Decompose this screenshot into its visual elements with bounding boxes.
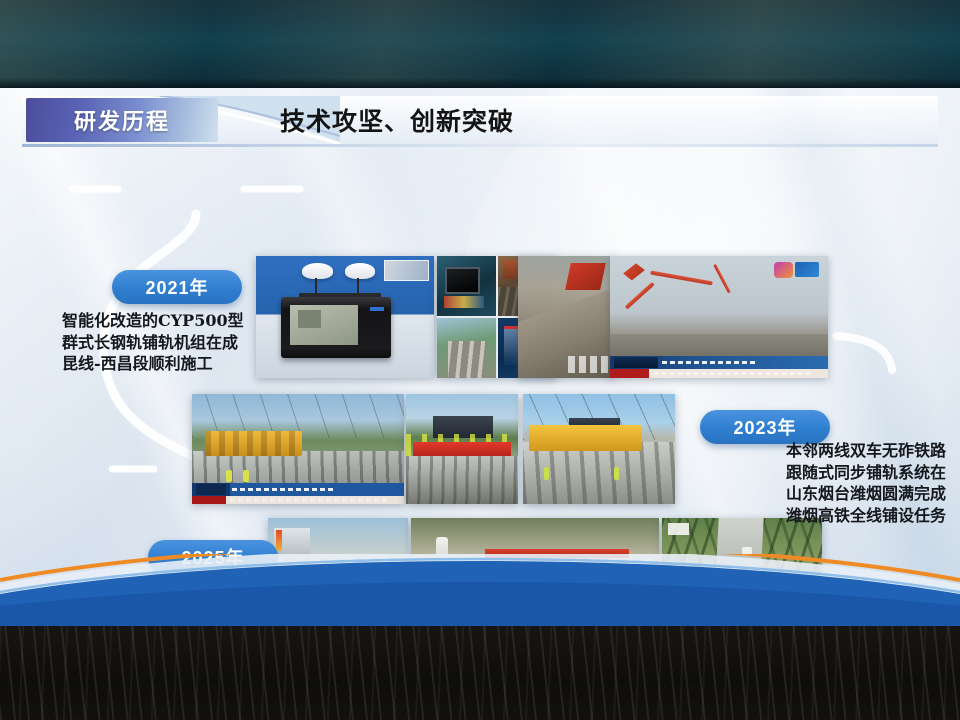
header-section-tab: 研发历程 (26, 98, 218, 142)
cctv-logo-icon (668, 523, 689, 534)
timeline-pill-2023-label: 2023年 (733, 414, 796, 440)
montage-cell (437, 318, 496, 378)
caption-line: 本邻两线双车无砟铁路 (786, 440, 960, 462)
channel-badge-secondary-icon (795, 262, 819, 277)
milestone-caption-2023: 本邻两线双车无砟铁路 跟随式同步铺轨系统在 山东烟台潍烟圆满完成 潍烟高铁全线铺… (786, 440, 960, 526)
header-divider (22, 144, 938, 147)
news-ticker-secondary (610, 369, 828, 378)
header-tab-label: 研发历程 (74, 104, 170, 136)
news-ticker-primary (610, 356, 828, 369)
caption-line: 群式长钢轨铺轨机组在成 (62, 332, 292, 354)
caption-line: 昆线-西昌段顺利施工 (62, 353, 292, 375)
caption-line: 跟随式同步铺轨系统在 (786, 462, 960, 484)
photo-yellow-gantry (523, 394, 675, 504)
montage-cell (437, 256, 496, 316)
news-ticker-primary (192, 483, 404, 496)
news-ticker-secondary (192, 496, 404, 504)
slide-header: 研发历程 技术攻坚、创新突破 (0, 96, 960, 148)
milestone-caption-2021: 智能化改造的CYP500型 群式长钢轨铺轨机组在成 昆线-西昌段顺利施工 (62, 310, 292, 375)
caption-line: 智能化改造的CYP500型 (62, 310, 292, 332)
photo-tv-news-pump (610, 256, 828, 378)
channel-badge-icon (774, 262, 794, 278)
slide-stage: 研发历程 技术攻坚、创新突破 (0, 0, 960, 720)
caption-line: 潍烟高铁全线铺设任务 (786, 505, 960, 527)
photo-track-layer-valley (192, 394, 404, 504)
timeline-pill-2023[interactable]: 2023年 (700, 410, 830, 444)
slide-bottom-ribbon (0, 554, 960, 626)
timeline-pill-2021[interactable]: 2021年 (112, 270, 242, 304)
bottom-letterbox-band (0, 626, 960, 720)
page-title: 技术攻坚、创新突破 (280, 100, 514, 140)
page-title-text: 技术攻坚、创新突破 (280, 102, 514, 138)
photo-ceremony-banner (406, 394, 518, 504)
timeline-pill-2021-label: 2021年 (145, 274, 208, 300)
top-letterbox-band (0, 0, 960, 88)
photo-excavator-slope (518, 256, 614, 378)
caption-line: 山东烟台潍烟圆满完成 (786, 483, 960, 505)
slide-canvas: 研发历程 技术攻坚、创新突破 (0, 88, 960, 626)
